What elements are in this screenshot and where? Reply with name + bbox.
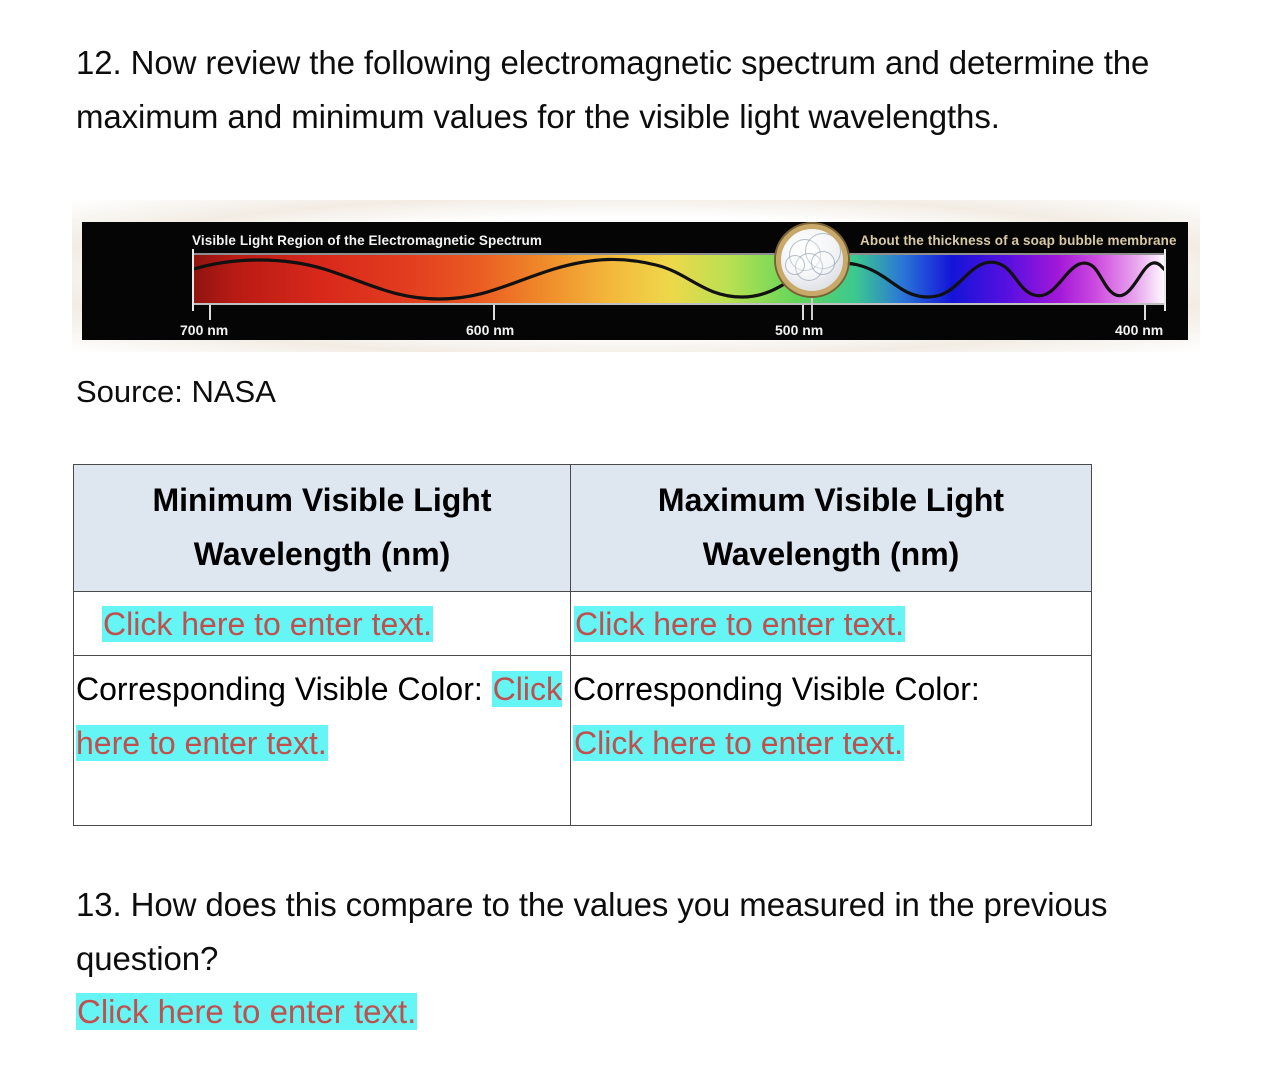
tick-label-700: 700 nm: [180, 322, 228, 338]
axis-line-right: [1164, 249, 1166, 311]
spectrum-caption: About the thickness of a soap bubble mem…: [860, 233, 1177, 248]
table-row: Corresponding Visible Color: Click here …: [74, 656, 1092, 826]
table-header-min-wavelength: Minimum Visible Light Wavelength (nm): [74, 465, 571, 592]
placeholder-max-wavelength[interactable]: Click here to enter text.: [574, 606, 905, 642]
cell-min-color[interactable]: Corresponding Visible Color: Click here …: [74, 656, 571, 826]
tick-label-400: 400 nm: [1115, 322, 1163, 338]
bubble-pointer-stem: [811, 294, 813, 320]
question-13-text: 13. How does this compare to the values …: [76, 878, 1206, 986]
cell-max-wavelength-value[interactable]: Click here to enter text.: [571, 592, 1092, 656]
table-header-row: Minimum Visible Light Wavelength (nm) Ma…: [74, 465, 1092, 592]
spectrum-figure: Visible Light Region of the Electromagne…: [72, 200, 1200, 352]
worksheet-page: 12. Now review the following electromagn…: [0, 0, 1273, 1092]
axis-line-left: [192, 249, 194, 311]
band-bottom-rule: [194, 303, 1166, 305]
wavelength-wave-curve: [194, 255, 1166, 303]
tick-mark-700: [209, 305, 211, 320]
placeholder-q13-answer[interactable]: Click here to enter text.: [76, 993, 417, 1030]
question-12-text: 12. Now review the following electromagn…: [76, 36, 1186, 144]
spectrum-title: Visible Light Region of the Electromagne…: [192, 233, 542, 248]
table-header-max-wavelength: Maximum Visible Light Wavelength (nm): [571, 465, 1092, 592]
soap-bubble-icon: [776, 224, 848, 296]
tick-label-500: 500 nm: [775, 322, 823, 338]
cell-max-color[interactable]: Corresponding Visible Color:Click here t…: [571, 656, 1092, 826]
wavelength-table: Minimum Visible Light Wavelength (nm) Ma…: [73, 464, 1092, 826]
question-13-answer-field[interactable]: Click here to enter text.: [76, 988, 417, 1036]
spectrum-panel: Visible Light Region of the Electromagne…: [82, 222, 1188, 340]
tick-mark-600: [493, 305, 495, 320]
table-row: Click here to enter text. Click here to …: [74, 592, 1092, 656]
placeholder-max-color[interactable]: Click here to enter text.: [573, 725, 904, 761]
placeholder-min-wavelength[interactable]: Click here to enter text.: [102, 606, 433, 642]
tick-mark-400: [1144, 305, 1146, 320]
label-min-corresponding-color: Corresponding Visible Color:: [76, 671, 492, 707]
tick-label-600: 600 nm: [466, 322, 514, 338]
cell-min-wavelength-value[interactable]: Click here to enter text.: [74, 592, 571, 656]
figure-source-caption: Source: NASA: [76, 371, 276, 413]
label-max-corresponding-color: Corresponding Visible Color:: [573, 671, 980, 707]
tick-mark-500: [802, 305, 804, 320]
